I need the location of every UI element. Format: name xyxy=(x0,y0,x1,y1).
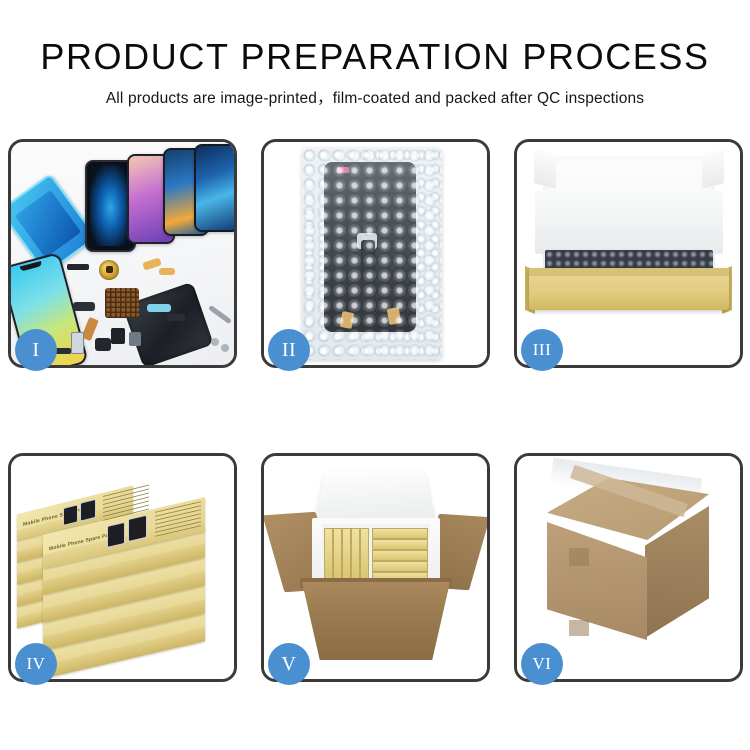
screw-icon xyxy=(211,338,219,346)
spare-part-icon xyxy=(111,328,125,344)
packed-yellow-box xyxy=(342,528,351,580)
process-step-panel-1[interactable]: I xyxy=(8,139,237,368)
screw-icon xyxy=(221,344,229,352)
carton-front-face xyxy=(547,522,647,640)
lcd-label-icon xyxy=(337,167,349,173)
process-step-panel-5[interactable]: V xyxy=(261,453,490,682)
copper-coil-icon xyxy=(99,260,119,280)
packed-yellow-box xyxy=(351,528,360,580)
foam-insert-icon xyxy=(535,190,723,254)
packed-yellow-box xyxy=(372,561,428,572)
process-step-panel-4[interactable]: Mobile Phone Spare Parts Mobile Phone Sp… xyxy=(8,453,237,682)
foam-box-interior xyxy=(322,524,430,582)
carton-handle-cut xyxy=(569,548,589,566)
bubble-wrap-bag xyxy=(302,148,442,360)
packed-yellow-box xyxy=(360,528,369,580)
lcd-screen-icon xyxy=(324,162,416,332)
box-phone-image-icon xyxy=(107,522,125,548)
step-badge-2: II xyxy=(268,329,310,371)
step-badge-5: V xyxy=(268,643,310,685)
packed-yellow-box xyxy=(372,550,428,561)
page-subtitle: All products are image-printed，film-coat… xyxy=(0,86,750,108)
box-phone-image-icon xyxy=(63,504,78,526)
tray-lip xyxy=(529,268,729,276)
packed-yellow-box xyxy=(372,539,428,550)
packed-yellow-box xyxy=(324,528,333,580)
spare-part-icon xyxy=(147,304,171,312)
product-preparation-infographic: PRODUCT PREPARATION PROCESS All products… xyxy=(0,0,750,750)
process-step-panel-6[interactable]: VI xyxy=(514,453,743,682)
step-badge-1: I xyxy=(15,329,57,371)
process-step-grid: I II xyxy=(8,139,742,684)
process-step-panel-2[interactable]: II xyxy=(261,139,490,368)
spare-part-icon xyxy=(159,268,175,275)
box-phone-image-icon xyxy=(128,515,147,542)
header: PRODUCT PREPARATION PROCESS All products… xyxy=(0,0,750,108)
spare-part-icon xyxy=(95,338,111,351)
step-badge-3: III xyxy=(521,329,563,371)
phone-notch-icon xyxy=(20,261,43,272)
spare-part-icon xyxy=(67,264,89,270)
packed-yellow-box xyxy=(372,528,428,539)
spare-part-icon xyxy=(129,332,141,346)
phone-notch-icon xyxy=(102,164,120,169)
spare-part-icon xyxy=(208,305,232,324)
box-stack: Mobile Phone Spare Parts Mobile Phone Sp… xyxy=(17,472,229,666)
yellow-tray-box xyxy=(529,268,729,310)
spare-part-icon xyxy=(167,314,185,321)
box-phone-image-icon xyxy=(80,499,96,522)
spare-part-icon xyxy=(73,302,95,311)
process-step-panel-3[interactable]: III xyxy=(514,139,743,368)
box-spec-lines xyxy=(155,500,201,537)
phone-screen-wave-icon xyxy=(194,144,234,232)
carton-body xyxy=(302,582,450,660)
page-title: PRODUCT PREPARATION PROCESS xyxy=(0,38,750,76)
lcd-flex-cable-icon xyxy=(361,240,375,324)
chip-grid-icon xyxy=(105,288,139,318)
gold-contact-icon xyxy=(339,311,354,329)
step-badge-6: VI xyxy=(521,643,563,685)
step-badge-4: IV xyxy=(15,643,57,685)
gold-contact-icon xyxy=(387,307,402,325)
packed-yellow-box xyxy=(333,528,342,580)
spare-part-icon xyxy=(55,348,71,354)
spare-part-icon xyxy=(71,332,84,354)
carton-handle-cut xyxy=(569,620,589,636)
